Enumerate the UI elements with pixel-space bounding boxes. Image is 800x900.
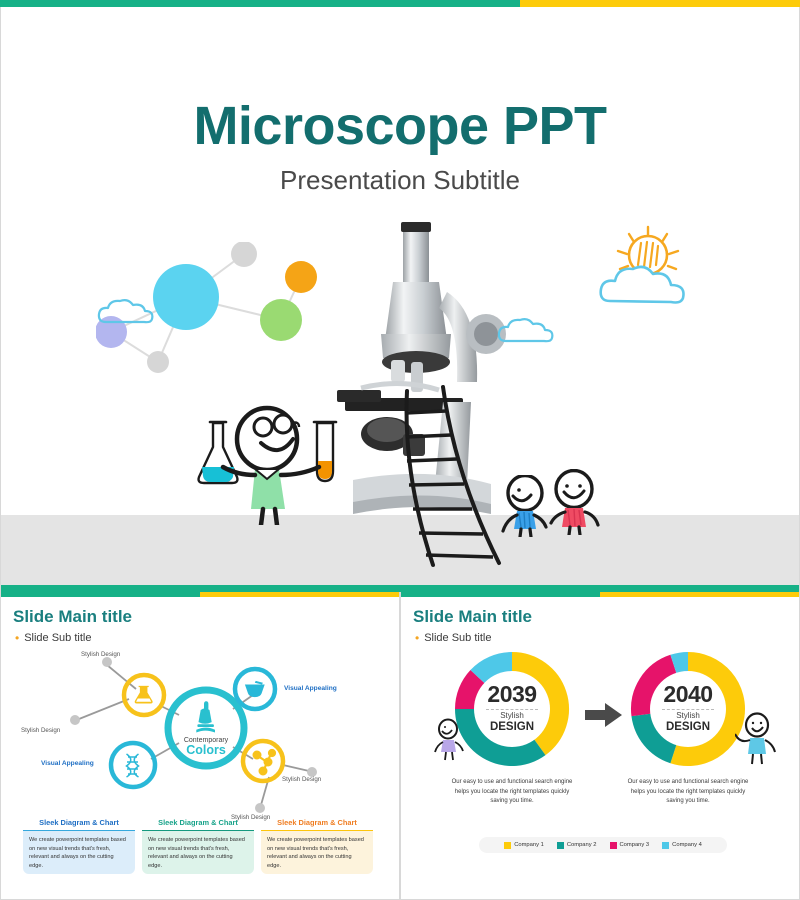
slide-right-accent-green xyxy=(401,592,600,597)
donut-2040-year: 2040 xyxy=(663,683,712,706)
hero-slide: Microscope PPT Presentation Subtitle xyxy=(0,7,800,592)
donut-2039-year: 2039 xyxy=(487,683,536,706)
card-green-title: Sleek Diagram & Chart xyxy=(142,818,254,830)
donut-2040-divider xyxy=(662,709,714,710)
legend-item-company-2[interactable]: Company 2 xyxy=(557,842,597,849)
legend-label-company-3: Company 3 xyxy=(620,842,650,848)
hub-diagram-svg: Contemporary Colors xyxy=(1,647,400,822)
donut-2039-caption: Our easy to use and functional search en… xyxy=(448,778,576,807)
sun-doodle xyxy=(596,225,706,315)
page-subtitle: Presentation Subtitle xyxy=(1,165,799,196)
slide-right-accent-yellow xyxy=(600,592,799,597)
donut-2040-subtitle-small: Stylish xyxy=(676,712,700,721)
donut-2040-caption: Our easy to use and functional search en… xyxy=(624,778,752,807)
donut-2040-center: 2040 Stylish DESIGN xyxy=(650,671,726,747)
kid-pointer-character xyxy=(735,712,779,766)
kid-blue-character xyxy=(499,475,553,537)
donut-2039-divider xyxy=(486,709,538,710)
top-accent-bar xyxy=(0,0,800,7)
legend-item-company-4[interactable]: Company 4 xyxy=(662,842,702,849)
bullet-icon: • xyxy=(15,632,19,644)
card-orange[interactable]: Sleek Diagram & Chart We create powerpoi… xyxy=(261,818,373,874)
hero-bottom-accent-bar xyxy=(1,585,799,592)
legend-swatch-company-1 xyxy=(504,842,511,849)
card-orange-title: Sleek Diagram & Chart xyxy=(261,818,373,830)
hub-node-label-bottom-left: Visual Appealing xyxy=(41,760,94,767)
legend-label-company-2: Company 2 xyxy=(567,842,597,848)
card-green[interactable]: Sleek Diagram & Chart We create powerpoi… xyxy=(142,818,254,874)
donut-chart-group: 2039 Stylish DESIGN 2040 Stylish DESIGN xyxy=(401,640,800,790)
slide-left-subtitle-row: • Slide Sub title xyxy=(15,632,399,644)
donut-chart-2039[interactable]: 2039 Stylish DESIGN xyxy=(453,650,571,768)
hub-leaf-label-1: Stylish Design xyxy=(81,651,120,658)
slide-charts: Slide Main title • Slide Sub title 2039 … xyxy=(400,592,800,900)
card-row: Sleek Diagram & Chart We create powerpoi… xyxy=(23,818,373,874)
donut-2039-center: 2039 Stylish DESIGN xyxy=(474,671,550,747)
donut-2040-subtitle-big: DESIGN xyxy=(666,721,710,734)
scientist-character xyxy=(193,405,371,525)
legend-item-company-3[interactable]: Company 3 xyxy=(610,842,650,849)
hub-leaf-label-3: Stylish Design xyxy=(282,776,321,783)
chart-legend: Company 1 Company 2 Company 3 Company 4 xyxy=(479,837,727,853)
page-title: Microscope PPT xyxy=(1,95,799,157)
slide-left-sub-title: Slide Sub title xyxy=(24,632,91,644)
right-arrow-icon xyxy=(585,702,623,728)
top-accent-green xyxy=(0,0,520,7)
card-blue[interactable]: Sleek Diagram & Chart We create powerpoi… xyxy=(23,818,135,874)
lower-slides-row: Slide Main title • Slide Sub title xyxy=(0,592,800,900)
donut-segment-company-4 xyxy=(673,662,688,664)
donut-2039-subtitle-small: Stylish xyxy=(500,712,524,721)
slide-left-main-title: Slide Main title xyxy=(13,607,399,627)
slide-left-accent-bar xyxy=(1,592,399,597)
hub-node-label-top-right: Visual Appealing xyxy=(284,685,337,692)
donut-2039-subtitle-big: DESIGN xyxy=(490,721,534,734)
cloud-doodle xyxy=(96,297,158,329)
legend-swatch-company-4 xyxy=(662,842,669,849)
legend-item-company-1[interactable]: Company 1 xyxy=(504,842,544,849)
legend-label-company-4: Company 4 xyxy=(672,842,702,848)
kid-observer-character xyxy=(433,718,467,762)
slide-right-main-title: Slide Main title xyxy=(413,607,799,627)
kid-red-character xyxy=(546,469,602,535)
hub-diagram: Contemporary Colors xyxy=(1,647,400,822)
donut-chart-2040[interactable]: 2040 Stylish DESIGN xyxy=(629,650,747,768)
top-accent-yellow xyxy=(520,0,800,7)
legend-swatch-company-2 xyxy=(557,842,564,849)
card-blue-body: We create powerpoint templates based on … xyxy=(23,830,135,874)
hub-center-big: Colors xyxy=(186,743,226,757)
slide-left-accent-yellow xyxy=(200,592,399,597)
legend-label-company-1: Company 1 xyxy=(514,842,544,848)
slide-diagram: Slide Main title • Slide Sub title xyxy=(0,592,400,900)
slide-right-accent-bar xyxy=(401,592,799,597)
cloud-doodle xyxy=(496,317,558,347)
slide-left-accent-green xyxy=(1,592,200,597)
card-blue-title: Sleek Diagram & Chart xyxy=(23,818,135,830)
card-green-body: We create powerpoint templates based on … xyxy=(142,830,254,874)
card-orange-body: We create powerpoint templates based on … xyxy=(261,830,373,874)
legend-swatch-company-3 xyxy=(610,842,617,849)
hub-leaf-label-2: Stylish Design xyxy=(21,727,60,734)
